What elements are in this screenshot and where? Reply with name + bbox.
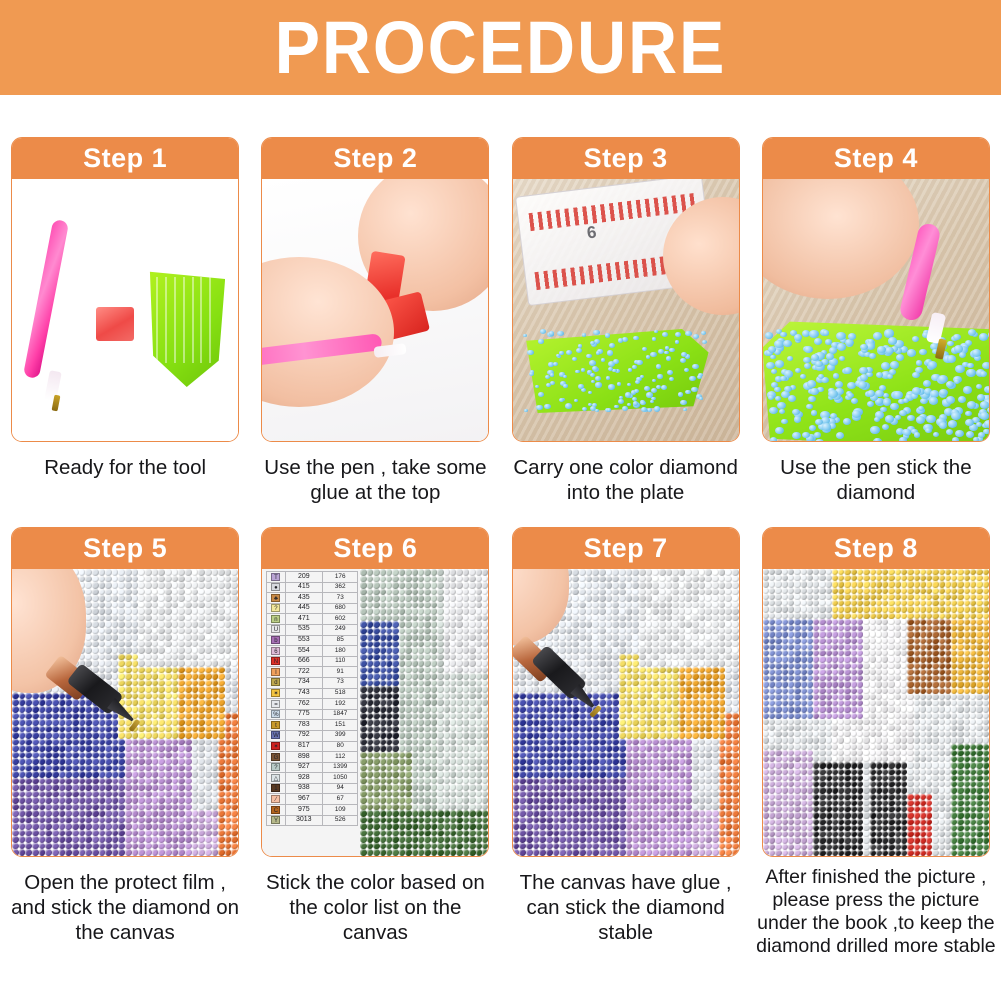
diamond-bead (774, 387, 781, 393)
diamond-bead (685, 331, 691, 336)
diamond-bead (955, 430, 963, 437)
legend-symbol: ✶ (267, 741, 285, 752)
diamond-bead (652, 337, 656, 340)
legend-code: 928 (285, 773, 322, 784)
legend-color-chip: b (271, 636, 280, 644)
diamond-bead (829, 347, 837, 354)
legend-row: T209176 (267, 572, 358, 583)
diamond-bead (858, 381, 867, 389)
step-image-5 (12, 569, 238, 856)
diamond-bead (650, 400, 654, 403)
diamond-bead (595, 409, 600, 413)
legend-row: ?445680 (267, 603, 358, 614)
glue-square-icon (96, 307, 134, 341)
legend-row: ●415362 (267, 582, 358, 593)
legend-count: 110 (323, 656, 358, 667)
legend-count: 526 (323, 815, 358, 826)
legend-symbol: b (267, 635, 285, 646)
legend-code: 783 (285, 720, 322, 731)
diamond-bead (874, 438, 881, 441)
legend-symbol: Y (267, 815, 285, 826)
diamond-bead (589, 360, 596, 366)
partial-canvas (360, 569, 488, 856)
legend-count: 680 (323, 603, 358, 614)
step-card-3: Step 3 6 (512, 137, 740, 442)
diamond-bead (702, 340, 707, 344)
diamond-bead (595, 382, 601, 387)
diamond-bead (807, 380, 816, 387)
diamond-bead (916, 416, 925, 423)
legend-count: 73 (323, 593, 358, 604)
legend-row: U535249 (267, 624, 358, 635)
diamond-bead (918, 406, 924, 411)
legend-row: W792399 (267, 730, 358, 741)
diamond-bead (973, 437, 979, 441)
legend-color-chip: ? (271, 763, 280, 771)
legend-color-chip: N (271, 657, 280, 665)
legend-table: T209176●415362♣43573?445680n471602U53524… (266, 571, 358, 826)
diamond-bead (839, 356, 845, 361)
legend-code: 792 (285, 730, 322, 741)
diamond-bead (646, 392, 653, 397)
legend-count: 109 (323, 805, 358, 816)
step-card-6: Step 6 T209176●415362♣43573?445680n47160… (261, 527, 489, 857)
legend-row: 193894 (267, 783, 358, 794)
diamond-bead (890, 403, 898, 410)
diamond-bead (634, 389, 639, 393)
diamond-bead (795, 368, 801, 373)
diamond-bead (826, 353, 834, 359)
diamond-bead (916, 360, 923, 365)
legend-symbol: ? (267, 603, 285, 614)
diamond-bead (646, 355, 650, 359)
legend-symbol: G (267, 752, 285, 763)
diamond-bead (948, 420, 958, 428)
diamond-bead (804, 346, 813, 353)
diamond-bead (633, 401, 638, 405)
diamond-bead (851, 398, 858, 404)
legend-color-chip: ⁄ (271, 795, 280, 803)
step-header-1: Step 1 (12, 138, 238, 179)
step-card-1: Step 1 (11, 137, 239, 442)
diamond-bead (976, 384, 982, 389)
diamond-bead (976, 422, 982, 427)
step-cell-1: Step 1 (0, 95, 250, 505)
diamond-bead (980, 412, 989, 420)
diamond-bead (549, 331, 555, 336)
legend-row: C975109 (267, 805, 358, 816)
diamond-bead (622, 406, 629, 412)
legend-symbol: 6 (267, 646, 285, 657)
diamond-bead (899, 410, 907, 416)
diamond-bead (699, 397, 703, 401)
diamond-bead (780, 332, 787, 337)
diamond-bead (665, 346, 669, 349)
diamond-bead (809, 330, 819, 338)
diamond-bead (875, 390, 883, 397)
diamond-bead (684, 368, 689, 372)
diamond-bead (592, 366, 598, 371)
legend-color-chip: d (271, 678, 280, 686)
diamond-bead (572, 357, 577, 361)
diamond-bead (954, 379, 960, 384)
legend-color-chip: ● (271, 583, 280, 591)
diamond-bead (873, 332, 882, 340)
legend-color-chip: Y (271, 816, 280, 824)
diamond-bead (889, 369, 896, 375)
diamond-bead (557, 331, 563, 336)
step-card-4: Step 4 (762, 137, 990, 442)
diamond-bead (657, 374, 662, 378)
legend-code: 445 (285, 603, 322, 614)
diamond-bead (800, 374, 806, 379)
legend-code: 898 (285, 752, 322, 763)
diamond-bead (914, 432, 921, 437)
diamond-bead (578, 384, 584, 389)
step-header-label-1: Step 1 (83, 145, 167, 172)
pen-nib-icon (52, 395, 61, 412)
diamond-bead (538, 339, 544, 344)
diamond-bead (982, 362, 989, 369)
diamond-bead (607, 350, 613, 355)
diamond-bead (810, 388, 818, 395)
pink-pen-icon (23, 219, 69, 379)
legend-count: 80 (323, 741, 358, 752)
legend-row: ✶81780 (267, 741, 358, 752)
step-header-3: Step 3 (513, 138, 739, 179)
diamond-bead (636, 360, 643, 366)
legend-code: 471 (285, 614, 322, 625)
diamond-bead (923, 380, 931, 387)
legend-code: 209 (285, 572, 322, 583)
diamond-bead (576, 348, 582, 353)
legend-code: 927 (285, 762, 322, 773)
diamond-bead (912, 372, 919, 378)
step-cell-2: Step 2 Use the pen , take some glu (250, 95, 500, 505)
diamond-bead (870, 426, 879, 434)
legend-row: %7751847 (267, 709, 358, 720)
step-image-8 (763, 569, 989, 856)
diamond-bead (632, 365, 637, 369)
legend-row: N666110 (267, 656, 358, 667)
diamond-bead (860, 374, 868, 381)
step-caption-2: Use the pen , take some glue at the top (257, 455, 493, 505)
diamond-bead (967, 369, 975, 376)
legend-count: 85 (323, 635, 358, 646)
page-header-banner: PROCEDURE (0, 0, 1001, 95)
diamond-bead (806, 404, 812, 409)
diamond-bead (675, 340, 679, 343)
legend-code: 666 (285, 656, 322, 667)
legend-count: 362 (323, 582, 358, 593)
diamond-bead (644, 386, 650, 391)
legend-symbol: I (267, 667, 285, 678)
diamond-bead (675, 332, 681, 337)
legend-symbol: = (267, 699, 285, 710)
diamond-bead (550, 373, 554, 376)
legend-code: 817 (285, 741, 322, 752)
legend-code: 553 (285, 635, 322, 646)
diamond-bead (925, 428, 931, 433)
legend-count: 518 (323, 688, 358, 699)
step-header-4: Step 4 (763, 138, 989, 179)
step-header-label-7: Step 7 (584, 535, 668, 562)
diamond-bead (662, 332, 668, 337)
diamond-bead (607, 408, 611, 412)
step-header-label-4: Step 4 (834, 145, 918, 172)
diamond-bead (903, 429, 912, 436)
diamond-bead (986, 387, 989, 393)
legend-symbol: ● (267, 582, 285, 593)
diamond-bead (835, 381, 843, 387)
legend-color-chip: 1 (271, 784, 280, 792)
legend-symbol: ⁄ (267, 794, 285, 805)
step-caption-3: Carry one color diamond into the plate (508, 455, 744, 505)
steps-grid: Step 1 (0, 95, 1001, 958)
diamond-bead (559, 351, 563, 355)
diamond-bead (903, 398, 909, 403)
legend-row: Y3013526 (267, 815, 358, 826)
step-header-label-3: Step 3 (584, 145, 668, 172)
diamond-bead (601, 358, 606, 362)
step-image-7 (513, 569, 739, 856)
diamond-bead (808, 396, 816, 402)
legend-color-chip: ? (271, 604, 280, 612)
diamond-bead (608, 384, 615, 390)
legend-row: ?9271399 (267, 762, 358, 773)
diamond-bead (876, 372, 883, 378)
legend-row: ♣43573 (267, 593, 358, 604)
legend-color-chip: U (271, 625, 280, 633)
legend-symbol: U (267, 624, 285, 635)
diamond-bead (837, 343, 846, 351)
diamond-bead (979, 333, 988, 341)
diamond-bead (828, 390, 838, 398)
step-caption-4: Use the pen stick the diamond (758, 455, 994, 505)
diamond-bead (794, 334, 802, 341)
diamond-bead (814, 432, 821, 437)
step-image-4 (763, 179, 989, 441)
diamond-bead (888, 337, 898, 345)
diamond-bead (691, 387, 697, 392)
legend-code: 975 (285, 805, 322, 816)
diamond-bead (952, 437, 959, 441)
legend-row: △9281050 (267, 773, 358, 784)
diamond-bead (899, 437, 906, 441)
pen-tip-icon (374, 343, 407, 358)
legend-color-chip: n (271, 615, 280, 623)
hand-icon (763, 179, 919, 299)
color-legend-table: T209176●415362♣43573?445680n471602U53524… (262, 569, 360, 856)
legend-symbol: ♣ (267, 593, 285, 604)
diamond-bead (669, 377, 674, 381)
step-cell-3: Step 3 6 Carry one c (501, 95, 751, 505)
legend-count: 73 (323, 677, 358, 688)
legend-symbol: ? (267, 762, 285, 773)
finished-diamond-painting (763, 569, 989, 856)
step-cell-6: Step 6 T209176●415362♣43573?445680n47160… (250, 505, 500, 958)
diamond-bead (605, 333, 611, 338)
diamond-bead (524, 409, 528, 412)
diamond-bead (907, 415, 915, 421)
diamond-bead (983, 429, 988, 434)
legend-symbol: W (267, 730, 285, 741)
diamond-bead (818, 374, 824, 379)
legend-count: 67 (323, 794, 358, 805)
bag-label: 6 (585, 222, 597, 243)
diamond-bead (697, 375, 703, 380)
diamond-bead (593, 330, 599, 335)
step-header-label-2: Step 2 (333, 145, 417, 172)
step-card-7: Step 7 (512, 527, 740, 857)
step-cell-8: Step 8 After finished the picture , plea… (751, 505, 1001, 958)
legend-count: 91 (323, 667, 358, 678)
legend-color-chip: G (271, 753, 280, 761)
diamond-bead (811, 354, 819, 361)
diamond-bead (953, 334, 961, 340)
legend-symbol: ✶ (267, 688, 285, 699)
legend-color-chip: ♣ (271, 594, 280, 602)
legend-row: ⁄96767 (267, 794, 358, 805)
step-caption-6: Stick the color based on the color list … (257, 870, 493, 945)
legend-code: 743 (285, 688, 322, 699)
diamond-bead (627, 383, 631, 386)
diamond-bead (765, 332, 773, 338)
step-header-label-8: Step 8 (834, 535, 918, 562)
step-header-7: Step 7 (513, 528, 739, 569)
diamond-bead (587, 370, 592, 374)
diamond-bead (566, 350, 572, 355)
diamond-bead (693, 334, 699, 339)
legend-count: 602 (323, 614, 358, 625)
diamond-bead (883, 393, 889, 398)
diamond-bead (959, 352, 966, 358)
legend-count: 176 (323, 572, 358, 583)
diamond-bead (896, 354, 904, 361)
diamond-bead (775, 427, 784, 434)
step-caption-5: Open the protect film , and stick the di… (7, 870, 243, 945)
legend-code: 3013 (285, 815, 322, 826)
diamond-bead (882, 424, 889, 430)
legend-count: 1399 (323, 762, 358, 773)
legend-color-chip: ✶ (271, 689, 280, 697)
legend-code: 967 (285, 794, 322, 805)
legend-code: 734 (285, 677, 322, 688)
diamond-bead (563, 384, 567, 387)
diamond-bead (563, 375, 567, 378)
legend-count: 180 (323, 646, 358, 657)
diamond-bead (540, 329, 546, 334)
diamond-bead (614, 405, 618, 409)
diamond-bead (883, 399, 891, 406)
step-cell-7: Step 7 (501, 505, 751, 958)
diamond-bead (766, 362, 775, 370)
diamond-bead (783, 340, 792, 347)
diamond-bead (968, 329, 976, 336)
step-header-5: Step 5 (12, 528, 238, 569)
diamond-bead (770, 437, 777, 441)
step-image-6: T209176●415362♣43573?445680n471602U53524… (262, 569, 488, 856)
legend-code: 775 (285, 709, 322, 720)
diamond-bead (529, 372, 534, 376)
legend-row: I72291 (267, 667, 358, 678)
diamond-bead (946, 381, 954, 387)
procedure-infographic: PROCEDURE Step 1 (0, 0, 1001, 1001)
diamond-bead (586, 354, 591, 358)
page-title: PROCEDURE (275, 11, 727, 85)
legend-code: 722 (285, 667, 322, 678)
legend-row: ✶743518 (267, 688, 358, 699)
legend-count: 1050 (323, 773, 358, 784)
diamond-bead (650, 352, 657, 357)
diamond-bead (815, 439, 824, 441)
diamond-bead (939, 422, 947, 429)
legend-symbol: t (267, 720, 285, 731)
legend-row: =762192 (267, 699, 358, 710)
legend-color-chip: 6 (271, 647, 280, 655)
step-cell-5: Step 5 (0, 505, 250, 958)
legend-row: G898112 (267, 752, 358, 763)
diamond-bead (613, 359, 619, 364)
legend-symbol: n (267, 614, 285, 625)
diamond-bead (683, 408, 687, 411)
diamond-bead (654, 330, 658, 333)
step-card-5: Step 5 (11, 527, 239, 857)
steps-row-bottom: Step 5 (0, 505, 1001, 958)
legend-row: 6554180 (267, 646, 358, 657)
step-image-1 (12, 179, 238, 441)
green-tray-icon (145, 267, 225, 387)
diamond-bead (701, 331, 706, 335)
diamond-bead (781, 419, 788, 424)
legend-color-chip: % (271, 710, 280, 718)
legend-color-chip: t (271, 721, 280, 729)
diamond-bead (538, 392, 544, 397)
diamond-bead (625, 392, 631, 397)
step-header-label-5: Step 5 (83, 535, 167, 562)
diamond-bead (804, 363, 811, 369)
diamond-bead (833, 373, 840, 378)
diamond-bead (893, 391, 903, 399)
diamond-bead (768, 346, 776, 353)
legend-color-chip: ✶ (271, 742, 280, 750)
legend-color-chip: △ (271, 774, 280, 782)
diamond-bead (890, 361, 900, 369)
step-header-6: Step 6 (262, 528, 488, 569)
legend-row: n471602 (267, 614, 358, 625)
diamond-bead (919, 349, 926, 355)
diamond-bead (966, 431, 974, 438)
legend-code: 535 (285, 624, 322, 635)
diamond-bead (972, 349, 981, 357)
step-header-2: Step 2 (262, 138, 488, 179)
diamond-bead (967, 401, 977, 409)
diamond-bead (544, 404, 550, 409)
diamond-bead (536, 405, 542, 410)
legend-code: 938 (285, 783, 322, 794)
legend-code: 762 (285, 699, 322, 710)
legend-count: 399 (323, 730, 358, 741)
legend-color-chip: I (271, 668, 280, 676)
legend-symbol: d (267, 677, 285, 688)
legend-row: d73473 (267, 677, 358, 688)
legend-symbol: △ (267, 773, 285, 784)
step-cell-4: Step 4 Use the pen stick the diamo (751, 95, 1001, 505)
step-header-8: Step 8 (763, 528, 989, 569)
step-card-2: Step 2 (261, 137, 489, 442)
diamond-bead (881, 362, 890, 370)
steps-row-top: Step 1 (0, 95, 1001, 505)
